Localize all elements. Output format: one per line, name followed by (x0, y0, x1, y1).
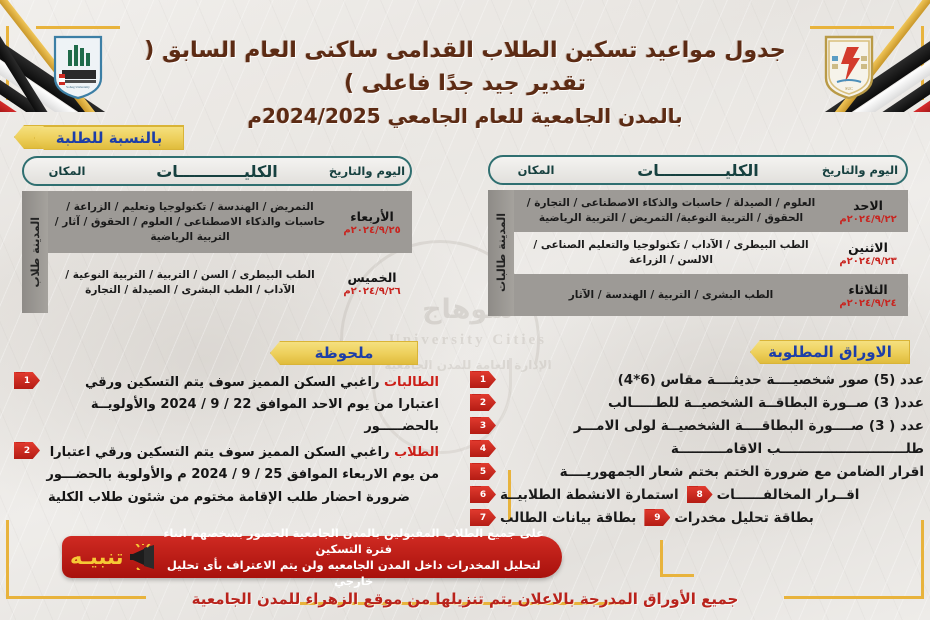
item-text: الطلاب راغبي السكن المميز سوف يتم التسكي… (42, 442, 444, 486)
row-date-cell: الأربعاء ٢٠٢٤/٩/٢٥م (332, 191, 412, 253)
warning-line1: على جميع الطلاب المقبولين بالمدن الجامعي… (158, 525, 550, 557)
list-item: 1 عدد (5) صور شخصيــــة حديثــــة مقاس (… (470, 368, 930, 391)
gold-rule-top-right (810, 26, 894, 29)
svg-text:SUC: SUC (845, 86, 853, 91)
male-table-header: اليوم والتاريخ الكليــــــــــــات المكا… (22, 156, 412, 186)
item-number-badge: 2 (470, 394, 496, 411)
item-highlight: الطالبات (384, 375, 439, 390)
row-date: ٢٠٢٤/٩/٢٥م (343, 225, 400, 236)
table-row: الأربعاء ٢٠٢٤/٩/٢٥م التمريض / الهندسة / … (48, 191, 412, 253)
item-text: طلـــــــــــــــــــــــــــب الاقامـــ… (498, 441, 930, 457)
female-place-column: المدينة طالبات (488, 190, 514, 316)
row-faculties: الطب البيطرى / السن / التربية / التربية … (48, 253, 332, 313)
item-number-badge: 1 (14, 372, 40, 389)
female-place-label: المدينة طالبات (495, 213, 508, 292)
section-tab-documents: الاوراق المطلوبة (750, 340, 910, 364)
list-item: 3 عدد ( 3) صــــورة البطاقــــة الشخصيــ… (470, 414, 930, 437)
section-tab-male: بالنسبة للطلبة (34, 126, 184, 150)
male-place-label: المدينة طلاب (29, 217, 42, 288)
row-date: ٢٠٢٤/٩/٢٣م (839, 256, 896, 267)
row-date: ٢٠٢٤/٩/٢٤م (839, 298, 896, 309)
col-header-date: اليوم والتاريخ (814, 157, 906, 183)
warning-label: تنبيـه (68, 545, 128, 569)
male-table-body: الأربعاء ٢٠٢٤/٩/٢٥م التمريض / الهندسة / … (22, 191, 412, 313)
item-text: عدد( 3) صــورة البطاقــة الشخصيــة للطــ… (498, 395, 930, 411)
male-place-column: المدينة طلاب (22, 191, 48, 313)
item-number-badge: 7 (470, 509, 496, 526)
item-text: عدد (5) صور شخصيــــة حديثــــة مقاس (6*… (498, 372, 930, 388)
item-body: راغبي السكن المميز سوف يتم التسكين ورقي … (46, 445, 439, 482)
table-row: الثلاثاء ٢٠٢٤/٩/٢٤م الطب البشرى / التربي… (514, 274, 908, 316)
list-item: 5 اقرار الضامن مع ضرورة الختم بختم شعار … (470, 460, 930, 483)
item-text: بطاقة تحليل مخدرات (674, 510, 819, 526)
warning-text: على جميع الطلاب المقبولين بالمدن الجامعي… (158, 525, 554, 589)
list-item: 4 طلـــــــــــــــــــــــــــب الاقامـ… (470, 437, 930, 460)
footer-note: جميع الأوراق المدرجة بالاعلان يتم تنزيله… (0, 590, 930, 608)
item-number-badge: 4 (470, 440, 496, 457)
row-date-cell: الخميس ٢٠٢٤/٩/٢٦م (332, 253, 412, 313)
col-header-faculties: الكليــــــــــــات (582, 157, 814, 183)
row-day: الأربعاء (350, 209, 394, 224)
table-row: الخميس ٢٠٢٤/٩/٢٦م الطب البيطرى / السن / … (48, 253, 412, 313)
row-date: ٢٠٢٤/٩/٢٢م (839, 214, 896, 225)
item-text: استمارة الانشطة الطلابيــة (500, 487, 685, 503)
item-text: اقــرار المخالفــــــات (717, 487, 866, 503)
item-text: عدد ( 3) صــــورة البطاقــــة الشخصيــة … (498, 418, 930, 434)
col-header-date: اليوم والتاريخ (324, 158, 410, 184)
page-title-line1: جدول مواعيد تسكين الطلاب القدامى ساكنى ا… (120, 34, 810, 100)
list-item: 2 الطلاب راغبي السكن المميز سوف يتم التس… (14, 442, 444, 486)
row-faculties: الطب البيطرى / الآداب / تكنولوجيا والتعل… (514, 232, 828, 274)
gold-rule-br-vert (921, 520, 924, 598)
gold-rule-top-left (36, 26, 120, 29)
gold-rule-left-vert (6, 26, 9, 100)
row-day: الاحد (853, 198, 883, 213)
table-row: الاحد ٢٠٢٤/٩/٢٢م العلوم / الصيدلة / حاسب… (514, 190, 908, 232)
page-title: جدول مواعيد تسكين الطلاب القدامى ساكنى ا… (120, 34, 810, 133)
col-header-place: المكان (490, 157, 582, 183)
item-number-badge: 2 (14, 442, 40, 459)
item-number-badge: 1 (470, 371, 496, 388)
gold-rule-right-vert (921, 26, 924, 100)
row-date-cell: الثلاثاء ٢٠٢٤/٩/٢٤م (828, 274, 908, 316)
female-table-body: الاحد ٢٠٢٤/٩/٢٢م العلوم / الصيدلة / حاسب… (488, 190, 908, 316)
female-table-header: اليوم والتاريخ الكليــــــــــــات المكا… (488, 155, 908, 185)
table-row: الاثنين ٢٠٢٤/٩/٢٣م الطب البيطرى / الآداب… (514, 232, 908, 274)
notes-plain-note: ضرورة احضار طلب الإقامة مختوم من شئون طل… (14, 490, 444, 505)
warning-banner: تنبيـه على جميع الطلاب المقبولين بالمدن … (62, 536, 562, 578)
list-item: 1 الطالبات راغبي السكن المميز سوف يتم ال… (14, 372, 444, 438)
documents-list: 1 عدد (5) صور شخصيــــة حديثــــة مقاس (… (470, 368, 930, 529)
university-cities-emblem: SUC (823, 34, 875, 100)
row-day: الثلاثاء (848, 282, 887, 297)
page-title-line2: بالمدن الجامعية للعام الجامعي 2024/2025م (120, 100, 810, 133)
item-text: الطالبات راغبي السكن المميز سوف يتم التس… (42, 372, 444, 438)
item-number-badge: 9 (644, 509, 670, 526)
male-schedule-table: اليوم والتاريخ الكليــــــــــــات المكا… (22, 156, 412, 313)
female-table-rows: الاحد ٢٠٢٤/٩/٢٢م العلوم / الصيدلة / حاسب… (514, 190, 908, 316)
notes-list: 1 الطالبات راغبي السكن المميز سوف يتم ال… (14, 372, 444, 505)
col-header-faculties: الكليــــــــــــات (110, 158, 324, 184)
list-item: 2 عدد( 3) صــورة البطاقــة الشخصيــة للط… (470, 391, 930, 414)
item-text: اقرار الضامن مع ضرورة الختم بختم شعار ال… (498, 464, 930, 480)
item-number-badge: 6 (470, 486, 496, 503)
male-table-rows: الأربعاء ٢٠٢٤/٩/٢٥م التمريض / الهندسة / … (48, 191, 412, 313)
list-item: 6 استمارة الانشطة الطلابيــة 8 اقــرار ا… (470, 483, 930, 506)
female-schedule-table: اليوم والتاريخ الكليــــــــــــات المكا… (488, 155, 908, 316)
warning-line2: لتحليل المخدرات داخل المدن الجامعيه ولن … (158, 557, 550, 589)
megaphone-icon (128, 544, 158, 570)
row-date-cell: الاحد ٢٠٢٤/٩/٢٢م (828, 190, 908, 232)
section-tab-notes: ملحوظة (270, 341, 418, 365)
row-faculties: العلوم / الصيدلة / حاسبات والذكاء الاصطن… (514, 190, 828, 232)
item-number-badge: 5 (470, 463, 496, 480)
gold-bracket-inner-right-h (660, 574, 694, 577)
item-number-badge: 8 (687, 486, 713, 503)
row-day: الخميس (347, 270, 396, 285)
item-highlight: الطلاب (394, 445, 439, 460)
item-text: بطاقة بيانات الطالب (500, 510, 642, 526)
row-date-cell: الاثنين ٢٠٢٤/٩/٢٣م (828, 232, 908, 274)
row-faculties: الطب البشرى / التربية / الهندسة / الآثار (514, 274, 828, 316)
gold-bracket-inner-right (660, 540, 663, 576)
gold-rule-bl-vert (6, 520, 9, 598)
col-header-place: المكان (24, 158, 110, 184)
row-date: ٢٠٢٤/٩/٢٦م (343, 286, 400, 297)
sohag-university-emblem: Sohag University (52, 34, 104, 100)
item-number-badge: 3 (470, 417, 496, 434)
svg-text:Sohag University: Sohag University (66, 85, 90, 89)
row-faculties: التمريض / الهندسة / تكنولوجيا وتعليم / ا… (48, 191, 332, 253)
row-day: الاثنين (848, 240, 888, 255)
